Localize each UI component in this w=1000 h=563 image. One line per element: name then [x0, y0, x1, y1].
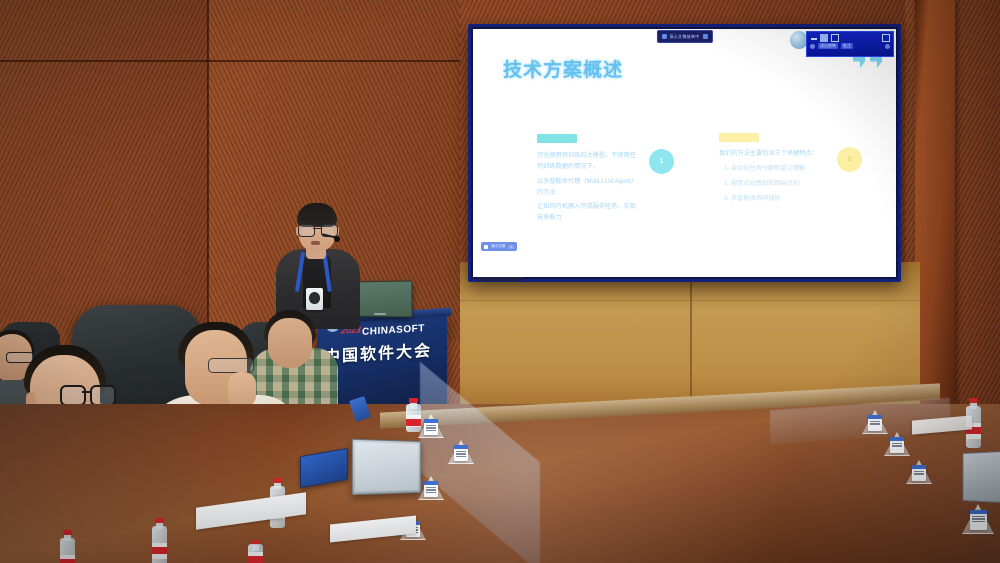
name-card — [868, 415, 882, 431]
left-para-1: 完全使用预训练的大模型，不使用任何训练数据的情况下， — [537, 151, 639, 173]
bottle-body — [60, 538, 75, 563]
name-card — [970, 510, 987, 530]
name-card-header — [890, 437, 904, 441]
bottle-cap — [409, 398, 418, 403]
window-controls-row[interactable] — [807, 32, 893, 42]
maximize-icon[interactable] — [820, 34, 828, 42]
attendee-gray-sweater-glasses — [60, 385, 112, 402]
presenter-name-badge — [306, 288, 323, 310]
name-card — [424, 481, 438, 497]
water-bottle — [152, 518, 167, 563]
bottle-cap — [155, 518, 164, 523]
water-bottle — [60, 530, 75, 563]
right-accent-bar — [719, 133, 759, 142]
attendee-cream-jacket-glasses — [208, 358, 254, 373]
watermark-label: 演示文稿 — [491, 244, 505, 249]
tv-mount — [477, 277, 523, 281]
bottle-cap — [969, 398, 978, 403]
pin-icon[interactable] — [703, 34, 708, 39]
glasses-bridge — [313, 228, 321, 229]
speaker-icon[interactable] — [885, 44, 890, 49]
watermark-icon — [484, 245, 488, 249]
bottle-cap — [63, 530, 72, 535]
bottle-body — [152, 526, 167, 563]
restore-icon[interactable] — [831, 34, 839, 42]
bottle-body — [248, 544, 263, 563]
name-card-header — [970, 510, 987, 514]
glasses-lens-left — [60, 385, 86, 406]
bottle-cap — [273, 478, 282, 483]
name-card — [424, 419, 438, 435]
left-para-2: 以多智能体代理（Multi LLM Agent）的方法 — [537, 177, 639, 199]
left-marker-bubble: 1 — [649, 149, 674, 174]
watermark-badge: 1 — [508, 245, 514, 249]
name-card-holder — [884, 432, 910, 456]
right-list-item: 视觉点云感知和目标识别 — [731, 179, 819, 190]
left-para-3: 让如何行机器人完成服务任务，实现自身能力 — [537, 202, 639, 224]
right-marker-bubble: 2 — [837, 147, 862, 172]
window-controls-buttons[interactable]: 退出放映 批注 — [807, 42, 893, 50]
chart-icon — [661, 34, 666, 39]
bottle-body — [406, 404, 421, 432]
name-card-header — [424, 419, 438, 423]
glasses-bridge — [82, 391, 90, 393]
wall-seam-vertical — [207, 0, 209, 340]
microphone-icon — [334, 236, 340, 242]
slideshow-toolbar[interactable]: 演示文稿放映中 — [656, 30, 712, 43]
minimize-icon[interactable] — [811, 38, 817, 40]
right-list: 自动化任务分解和语义理解 视觉点云感知和目标识别 多智能体协同规划 — [719, 164, 819, 205]
bottle-label — [248, 552, 263, 562]
name-card-holder — [418, 414, 444, 438]
name-card-holder — [418, 476, 444, 500]
right-list-item: 自动化任务分解和语义理解 — [731, 164, 819, 175]
right-heading: 我们的方法主要包含三个关键特点： — [719, 149, 819, 160]
name-card-header — [424, 481, 438, 485]
bottle-label — [406, 415, 421, 427]
name-card-holder — [962, 504, 994, 534]
attendee-plaid-head — [268, 318, 312, 368]
left-accent-bar — [537, 134, 577, 143]
name-card-holder — [448, 440, 474, 464]
name-card — [912, 465, 926, 481]
attendee-cream-jacket-hand — [228, 372, 256, 406]
glasses-lens-left — [298, 224, 315, 237]
exit-slideshow-button[interactable]: 退出放映 — [818, 43, 838, 49]
window-controls-overlay[interactable]: 退出放映 批注 — [806, 31, 894, 57]
name-card-holder — [906, 460, 932, 484]
name-card-holder — [862, 410, 888, 434]
presenter-glasses — [298, 224, 337, 235]
slideshow-toolbar-label: 演示文稿放映中 — [669, 34, 699, 40]
wall-panel-left — [0, 0, 208, 330]
close-icon[interactable] — [882, 34, 890, 42]
water-bottle — [248, 540, 263, 563]
left-column: 完全使用预训练的大模型，不使用任何训练数据的情况下， 以多智能体代理（Multi… — [537, 151, 639, 228]
bottle-label — [60, 555, 75, 563]
name-card-header — [454, 445, 468, 449]
glasses-lens-right — [90, 385, 116, 406]
slide-watermark: 演示文稿 1 — [481, 242, 517, 251]
water-bottle — [406, 398, 421, 432]
laptop-screen — [355, 442, 419, 492]
name-card-header — [912, 465, 926, 469]
name-card — [890, 437, 904, 453]
app-icon — [810, 44, 815, 49]
presenter-mouth — [311, 241, 320, 245]
right-list-item: 多智能体协同规划 — [731, 194, 819, 205]
lower-wall-seam-h — [460, 300, 920, 301]
right-column: 我们的方法主要包含三个关键特点： 自动化任务分解和语义理解 视觉点云感知和目标识… — [719, 149, 819, 208]
attendee-laptop — [963, 451, 1000, 503]
screenshot-root: 技术方案概述 完全使用预训练的大模型，不使用任何训练数据的情况下， 以多智能体代… — [0, 0, 1000, 563]
attendee-laptop — [352, 439, 421, 496]
wall-seam-horizontal — [0, 60, 460, 62]
display-screen: 技术方案概述 完全使用预训练的大模型，不使用任何训练数据的情况下， 以多智能体代… — [473, 29, 896, 277]
name-card — [454, 445, 468, 461]
presentation-display: 技术方案概述 完全使用预训练的大模型，不使用任何训练数据的情况下， 以多智能体代… — [468, 24, 901, 282]
slide-title: 技术方案概述 — [503, 55, 623, 82]
name-card-header — [868, 415, 882, 419]
bottle-label — [152, 543, 167, 559]
slide-canvas: 技术方案概述 完全使用预训练的大模型，不使用任何训练数据的情况下， 以多智能体代… — [473, 29, 896, 277]
annotate-button[interactable]: 批注 — [841, 43, 853, 49]
